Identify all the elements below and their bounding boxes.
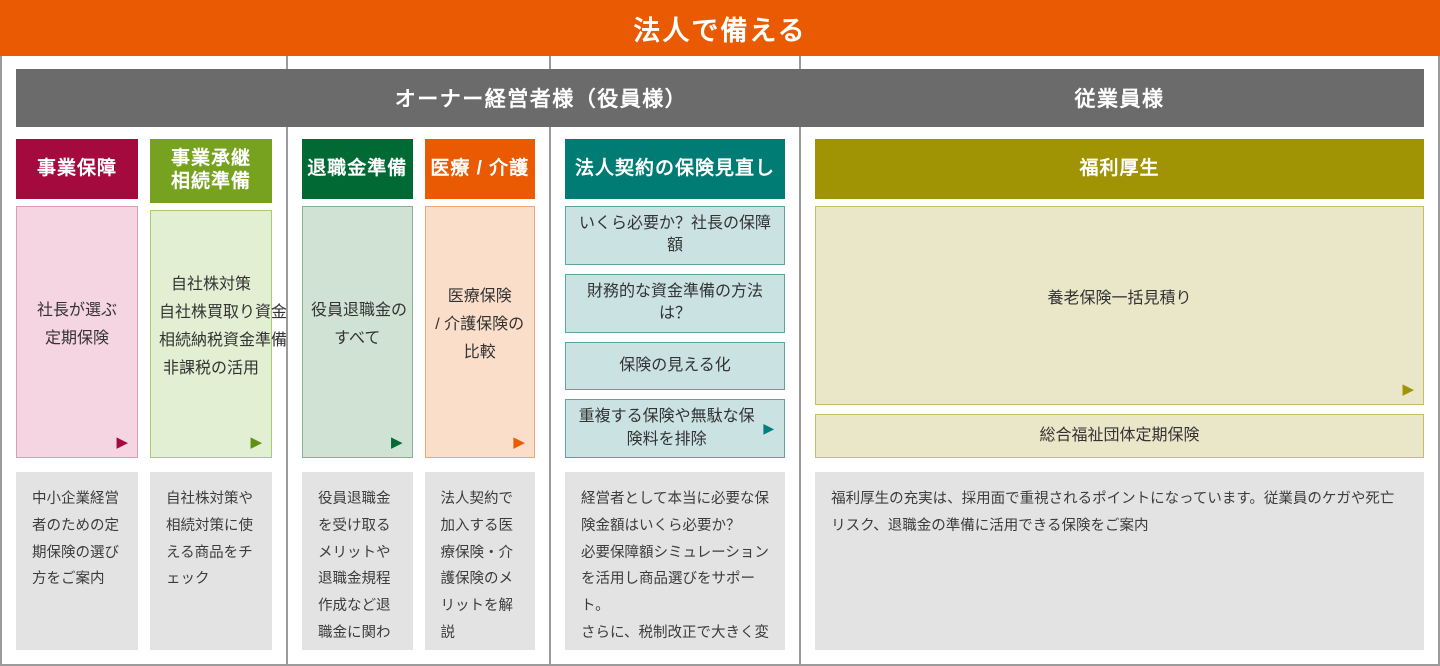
tile-line: すべて — [311, 325, 403, 353]
benefits-item-list: 養老保険一括見積り ▶ 総合福祉団体定期保険 — [815, 206, 1424, 458]
description-text: 経営者として本当に必要な保険金額はいくら必要か？ 必要保障額シミュレーションを活… — [581, 486, 769, 650]
tile-line: 自社株対策 — [159, 271, 263, 299]
arrow-right-icon[interactable]: ▶ — [513, 435, 525, 450]
category-business-succession: 事業承継 相続準備 自社株対策 自社株買取り資金 相続納税資金準備 非課税の活用… — [150, 139, 272, 458]
tile-line: 医療保険 — [434, 283, 526, 311]
tile-line: 非課税の活用 — [159, 355, 263, 383]
category-employee-benefits: 福利厚生 養老保険一括見積り ▶ 総合福祉団体定期保険 — [815, 139, 1424, 458]
tile-endowment-quote[interactable]: 養老保険一括見積り ▶ — [815, 206, 1424, 405]
board-body: オーナー経営者様（役員様） 事業保障 社長が選ぶ 定期保険 ▶ — [0, 56, 1440, 666]
review-item-2[interactable]: 財務的な資金準備の方法は？ — [565, 274, 785, 333]
tile-medical-nursing[interactable]: 医療保険 / 介護保険の 比較 ▶ — [425, 206, 535, 458]
category-columns-c: 法人契約の保険見直し いくら必要か？社長の保障額 財務的な資金準備の方法は？ 保… — [565, 139, 785, 458]
description-retirement-allowance: 役員退職金を受け取るメリットや退職金規程作成など退職金に関わる内容をご案内 — [302, 472, 412, 650]
audience-bar-owner: オーナー経営者様（役員様） — [16, 69, 1066, 127]
review-item-4[interactable]: 重複する保険や無駄な保険料を排除 ▶ — [565, 399, 785, 458]
category-corporate-policy-review: 法人契約の保険見直し いくら必要か？社長の保障額 財務的な資金準備の方法は？ 保… — [565, 139, 785, 458]
panel-owner-group-a: オーナー経営者様（役員様） 事業保障 社長が選ぶ 定期保険 ▶ — [2, 56, 286, 664]
review-item-1[interactable]: いくら必要か？社長の保障額 — [565, 206, 785, 265]
review-item-label: 保険の見える化 — [619, 355, 731, 377]
category-retirement-allowance: 退職金準備 役員退職金の すべて ▶ — [302, 139, 412, 458]
category-head-label: 福利厚生 — [1080, 157, 1160, 180]
category-business-protection: 事業保障 社長が選ぶ 定期保険 ▶ — [16, 139, 138, 458]
category-head-label: 相続準備 — [171, 171, 251, 194]
arrow-right-icon[interactable]: ▶ — [116, 435, 128, 450]
category-head-label: 事業承継 — [171, 148, 251, 171]
description-row-employee: 福利厚生の充実は、採用面で重視されるポイントになっています。従業員のケガや死亡リ… — [815, 458, 1424, 650]
review-item-3[interactable]: 保険の見える化 — [565, 342, 785, 391]
category-head-medical-nursing: 医療 / 介護 — [425, 139, 535, 199]
description-text: 役員退職金を受け取るメリットや退職金規程作成など退職金に関わる内容をご案内 — [318, 486, 396, 650]
description-row-a: 中小企業経営者のための定期保険の選び方をご案内 自社株対策や相続対策に使える商品… — [16, 458, 272, 650]
category-head-label: 退職金準備 — [307, 157, 407, 180]
tile-line: 比較 — [434, 339, 526, 367]
category-head-business-succession: 事業承継 相続準備 — [150, 139, 272, 203]
category-head-label: 法人契約の保険見直し — [575, 157, 775, 180]
tile-business-protection[interactable]: 社長が選ぶ 定期保険 ▶ — [16, 206, 138, 458]
category-head-corporate-policy-review: 法人契約の保険見直し — [565, 139, 785, 199]
review-item-list: いくら必要か？社長の保障額 財務的な資金準備の方法は？ 保険の見える化 重複する… — [565, 206, 785, 458]
review-item-label: 財務的な資金準備の方法は？ — [576, 281, 774, 326]
description-corporate-policy-review: 経営者として本当に必要な保険金額はいくら必要か？ 必要保障額シミュレーションを活… — [565, 472, 785, 650]
description-row-c: 経営者として本当に必要な保険金額はいくら必要か？ 必要保障額シミュレーションを活… — [565, 458, 785, 650]
category-head-employee-benefits: 福利厚生 — [815, 139, 1424, 199]
tile-line: 養老保険一括見積り — [824, 285, 1415, 313]
review-item-label: 重複する保険や無駄な保険料を排除 — [576, 406, 757, 451]
benefits-item-label: 総合福祉団体定期保険 — [1040, 425, 1200, 447]
category-columns-b: 退職金準備 役員退職金の すべて ▶ 医療 / 介護 — [302, 139, 535, 458]
tile-line: 役員退職金の — [311, 297, 403, 325]
description-business-protection: 中小企業経営者のための定期保険の選び方をご案内 — [16, 472, 138, 650]
arrow-right-icon[interactable]: ▶ — [250, 435, 262, 450]
tile-business-succession[interactable]: 自社株対策 自社株買取り資金 相続納税資金準備 非課税の活用 ▶ — [150, 210, 272, 458]
category-head-business-protection: 事業保障 — [16, 139, 138, 199]
description-business-succession: 自社株対策や相続対策に使える商品をチェック — [150, 472, 272, 650]
review-item-label: いくら必要か？社長の保障額 — [576, 213, 774, 258]
category-head-label: 医療 / 介護 — [430, 157, 529, 180]
tile-line: 自社株買取り資金 — [159, 299, 263, 327]
tile-line: 社長が選ぶ — [25, 297, 129, 325]
audience-label-owner: オーナー経営者様（役員様） — [395, 83, 688, 113]
tile-line: / 介護保険の — [434, 311, 526, 339]
tile-line: 定期保険 — [25, 325, 129, 353]
tile-retirement-allowance[interactable]: 役員退職金の すべて ▶ — [302, 206, 412, 458]
description-medical-nursing: 法人契約で加入する医療保険・介護保険のメリットを解説 — [425, 472, 535, 650]
panel-owner-group-c: 法人契約の保険見直し いくら必要か？社長の保障額 財務的な資金準備の方法は？ 保… — [549, 56, 799, 664]
category-columns-a: 事業保障 社長が選ぶ 定期保険 ▶ 事業承継 相続準備 — [16, 139, 272, 458]
category-columns-employee: 福利厚生 養老保険一括見積り ▶ 総合福祉団体定期保険 — [815, 139, 1424, 458]
legal-insurance-navigation-board: 法人で備える オーナー経営者様（役員様） 事業保障 社長が選ぶ — [0, 0, 1440, 666]
category-head-label: 事業保障 — [37, 157, 117, 180]
description-row-b: 役員退職金を受け取るメリットや退職金規程作成など退職金に関わる内容をご案内 法人… — [302, 458, 535, 650]
audience-label-employee: 従業員様 — [1075, 83, 1165, 113]
description-text: 自社株対策や相続対策に使える商品をチェック — [166, 486, 256, 593]
panel-employee: 従業員様 福利厚生 養老保険一括見積り ▶ — [799, 56, 1438, 664]
page-title-banner: 法人で備える — [0, 0, 1440, 56]
arrow-right-icon[interactable]: ▶ — [1402, 382, 1414, 397]
category-medical-nursing: 医療 / 介護 医療保険 / 介護保険の 比較 ▶ — [425, 139, 535, 458]
panel-owner-group-b: 退職金準備 役員退職金の すべて ▶ 医療 / 介護 — [286, 56, 549, 664]
arrow-right-icon[interactable]: ▶ — [763, 419, 774, 439]
benefits-item-group-term[interactable]: 総合福祉団体定期保険 — [815, 414, 1424, 458]
page-title: 法人で備える — [633, 9, 806, 48]
description-text: 福利厚生の充実は、採用面で重視されるポイントになっています。従業員のケガや死亡リ… — [831, 486, 1408, 540]
description-text: 中小企業経営者のための定期保険の選び方をご案内 — [32, 486, 122, 593]
arrow-right-icon[interactable]: ▶ — [391, 435, 403, 450]
description-text: 法人契約で加入する医療保険・介護保険のメリットを解説 — [441, 486, 519, 647]
tile-line: 相続納税資金準備 — [159, 327, 263, 355]
description-employee-benefits: 福利厚生の充実は、採用面で重視されるポイントになっています。従業員のケガや死亡リ… — [815, 472, 1424, 650]
category-head-retirement-allowance: 退職金準備 — [302, 139, 412, 199]
